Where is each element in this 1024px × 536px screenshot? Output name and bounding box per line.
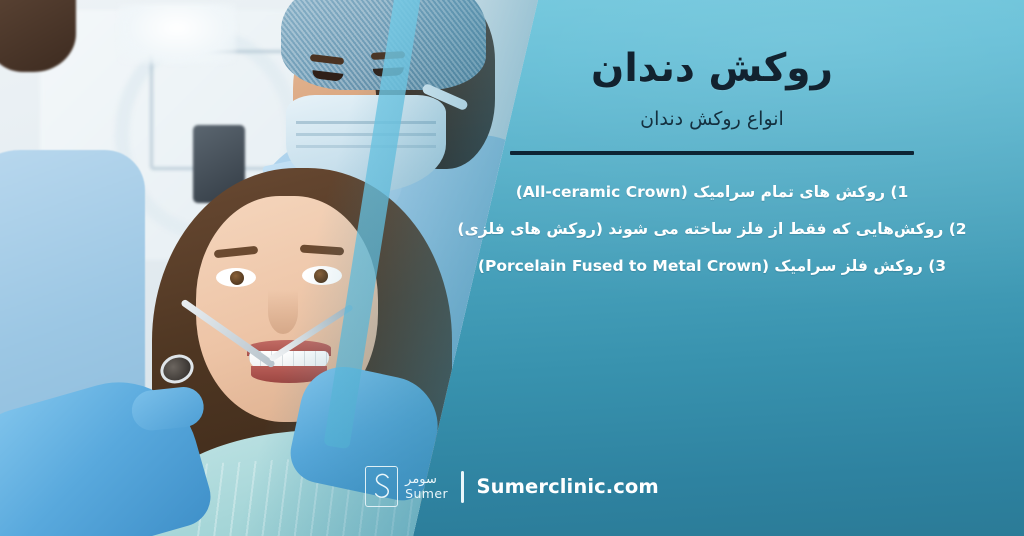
page-title: روکش دندان	[442, 47, 982, 91]
patient-iris-right	[314, 269, 328, 283]
banner-content: روکش دندان انواع روکش دندان 1) روکش های …	[442, 0, 982, 536]
page-subtitle: انواع روکش دندان	[442, 108, 982, 130]
clinic-lamp-glow	[118, 4, 236, 64]
list-item: 1) روکش های تمام سرامیک (All-ceramic Cro…	[442, 180, 982, 204]
sumer-s-logo-icon	[365, 466, 398, 507]
logo-arabic-text: سومر	[405, 473, 437, 487]
footer-separator	[461, 471, 464, 503]
list-item: 2) روکش‌هایی که فقط از فلز ساخته می شوند…	[442, 217, 982, 241]
title-divider	[510, 151, 914, 155]
footer-branding: سومر Sumer Sumerclinic.com	[0, 466, 1024, 507]
patient-iris-left	[230, 271, 244, 285]
patient-nose	[268, 290, 298, 334]
dental-crown-banner: روکش دندان انواع روکش دندان 1) روکش های …	[0, 0, 1024, 536]
sumer-logo[interactable]: سومر Sumer	[365, 466, 448, 507]
crown-types-list: 1) روکش های تمام سرامیک (All-ceramic Cro…	[442, 180, 982, 278]
website-url[interactable]: Sumerclinic.com	[477, 475, 659, 498]
sumer-logo-wordmark: سومر Sumer	[405, 473, 448, 501]
list-item: 3) روکش فلز سرامیک (Porcelain Fused to M…	[442, 254, 982, 278]
logo-latin-text: Sumer	[405, 487, 448, 501]
